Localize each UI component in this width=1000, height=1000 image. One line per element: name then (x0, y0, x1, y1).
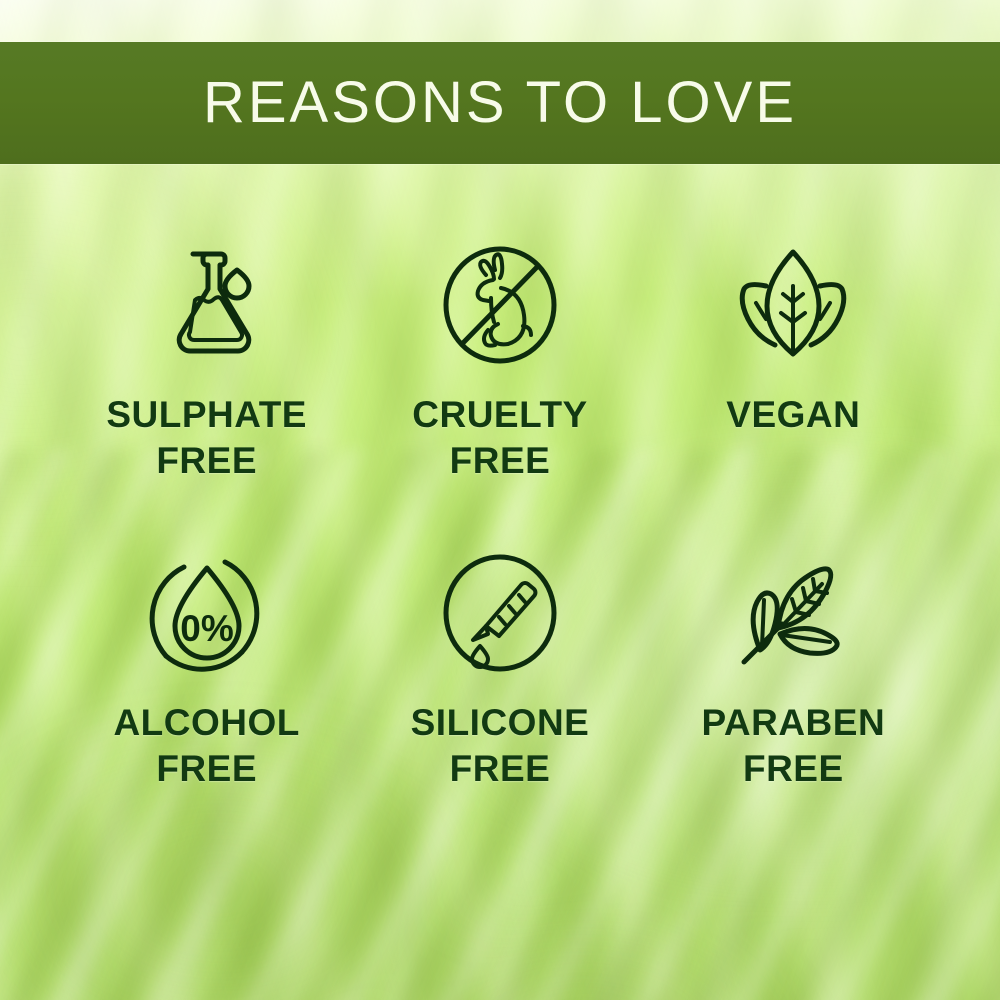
droplet-zero-percent-text: 0% (180, 608, 233, 649)
feature-label-line1: CRUELTY (412, 394, 587, 435)
feature-label-line2: FREE (701, 746, 885, 792)
feature-label: CRUELTY FREE (412, 392, 587, 485)
feature-label: VEGAN (726, 392, 860, 438)
feature-label-line2: FREE (412, 438, 587, 484)
feature-label-line2: FREE (113, 746, 299, 792)
feature-item-sulphate-free: SULPHATE FREE (60, 230, 353, 522)
feature-label-line2: FREE (411, 746, 590, 792)
feature-item-vegan: VEGAN (647, 230, 940, 522)
dropper-pipette-icon (425, 538, 575, 688)
reasons-to-love-poster: REASONS TO LOVE SULPHATE FREE (0, 0, 1000, 1000)
page-title: REASONS TO LOVE (203, 74, 797, 132)
leaf-sprig-branch-icon (718, 538, 868, 688)
no-animal-testing-rabbit-icon (425, 230, 575, 380)
feature-item-paraben-free: PARABEN FREE (647, 538, 940, 830)
feature-label: SULPHATE FREE (106, 392, 307, 485)
feature-label-line2: FREE (106, 438, 307, 484)
feature-label-line1: SULPHATE (106, 394, 307, 435)
feature-label-line1: SILICONE (411, 702, 590, 743)
feature-item-silicone-free: SILICONE FREE (353, 538, 646, 830)
flask-droplet-icon (132, 230, 282, 380)
feature-label-line1: ALCOHOL (113, 702, 299, 743)
three-leaves-vegan-icon (718, 230, 868, 380)
feature-label: SILICONE FREE (411, 700, 590, 793)
feature-label: PARABEN FREE (701, 700, 885, 793)
header-banner: REASONS TO LOVE (0, 42, 1000, 164)
feature-label: ALCOHOL FREE (113, 700, 299, 793)
feature-item-alcohol-free: 0% ALCOHOL FREE (60, 538, 353, 830)
feature-item-cruelty-free: CRUELTY FREE (353, 230, 646, 522)
feature-label-line1: PARABEN (701, 702, 885, 743)
water-droplet-zero-percent-icon: 0% (132, 538, 282, 688)
feature-label-line1: VEGAN (726, 394, 860, 435)
features-grid: SULPHATE FREE (60, 230, 940, 830)
